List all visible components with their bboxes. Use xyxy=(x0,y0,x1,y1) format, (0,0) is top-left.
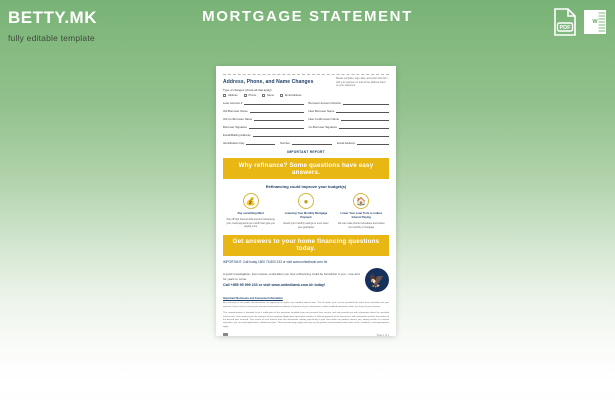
field-coborrower-signature[interactable]: Co-Borrower Signature xyxy=(309,125,390,129)
input-line[interactable] xyxy=(339,125,389,129)
feature-title: Pay something Mind xyxy=(226,212,276,216)
document-footer: Page 1 of 1 xyxy=(223,333,389,336)
return-instructions-note: Please complete, sign, date, and return … xyxy=(336,77,388,88)
document-preview-page[interactable]: Please complete, sign, date, and return … xyxy=(216,66,396,336)
get-answers-banner: Get answers to your home financing quest… xyxy=(223,235,389,256)
field-identification-day[interactable]: Identification Day xyxy=(223,141,275,145)
input-line[interactable] xyxy=(292,141,332,145)
feature-item: 🏠 Lower Your Loan Term to reduce Interes… xyxy=(336,193,386,230)
word-label: W xyxy=(583,19,607,25)
important-report-note: IMPORTANT REPORT xyxy=(223,150,389,154)
change-type-label: Type of changes (check all that apply): xyxy=(223,88,389,92)
field-email-mailing-address[interactable]: Email/Mailing Address xyxy=(223,133,389,137)
field-loan-account[interactable]: Loan Account # xyxy=(223,101,304,105)
feature-body: Reach your monthly savings or even lower… xyxy=(281,222,331,229)
promo-text: A quick investigation, loan review, coul… xyxy=(223,272,361,289)
field-old-coborrower-name[interactable]: Old Co-Borrower Name xyxy=(223,117,304,121)
legal-paragraph-2: This communication is intended to be a n… xyxy=(223,312,389,329)
field-row: Old Co-Borrower Name New Co-Borrower Nam… xyxy=(223,117,389,121)
page-number: Page 1 of 1 xyxy=(377,334,389,336)
field-row: Loan Account # Borrower Account Number xyxy=(223,101,389,105)
promo-block: A quick investigation, loan review, coul… xyxy=(223,268,389,292)
input-line[interactable] xyxy=(357,141,389,145)
input-line[interactable] xyxy=(244,101,303,105)
feature-title: Lower Your Loan Term to reduce Interest … xyxy=(336,212,386,220)
input-line[interactable] xyxy=(341,117,389,121)
field-email-address[interactable]: Email Address xyxy=(337,141,389,145)
input-line[interactable] xyxy=(249,125,303,129)
promo-cta: Call +855 95 999 233 or visit www.united… xyxy=(223,282,361,288)
field-row: Email/Mailing Address xyxy=(223,133,389,137)
field-row: Old Borrower Name New Borrower Name xyxy=(223,109,389,113)
promo-body: A quick investigation, loan review, coul… xyxy=(223,272,360,281)
contact-line: IMPORTANT: Call today 1800 76 800 233 or… xyxy=(223,260,389,265)
field-row: Borrower Signature Co-Borrower Signature xyxy=(223,125,389,129)
change-type-checkbox-group[interactable]: Address Phone Name Email Address xyxy=(223,94,389,97)
word-file-icon[interactable]: W xyxy=(583,8,607,36)
field-borrower-signature[interactable]: Borrower Signature xyxy=(223,125,304,129)
refinance-subheading: Refinancing could improve your budget(s) xyxy=(223,184,389,189)
field-new-coborrower-name[interactable]: New Co-Borrower Name xyxy=(309,117,390,121)
feature-list: 💰 Pay something Mind Pay off high intere… xyxy=(223,193,389,230)
house-key-icon: 🏠 xyxy=(353,193,369,209)
page-title: MORTGAGE STATEMENT xyxy=(0,8,615,25)
checkbox-phone[interactable]: Phone xyxy=(244,94,257,97)
input-line[interactable] xyxy=(343,101,389,105)
field-row: Identification Day Number Email Address xyxy=(223,141,389,145)
piggy-bank-icon: 💰 xyxy=(243,193,259,209)
field-old-borrower-name[interactable]: Old Borrower Name xyxy=(223,109,304,113)
bank-logo-icon: 🦅 xyxy=(365,268,389,292)
checkbox-address[interactable]: Address xyxy=(223,94,238,97)
field-new-borrower-name[interactable]: New Borrower Name xyxy=(309,109,390,113)
feature-item: 💰 Pay something Mind Pay off high intere… xyxy=(226,193,276,230)
input-line[interactable] xyxy=(253,133,389,137)
file-format-badges: PDF W xyxy=(553,8,607,36)
brand-tagline: fully editable template xyxy=(8,33,97,43)
field-number[interactable]: Number xyxy=(280,141,332,145)
legal-paragraph-1: By continuing to use public documentatio… xyxy=(223,302,389,309)
feature-body: We can make shorter schedules and reduce… xyxy=(336,222,386,229)
refinance-banner: Why refinance? Some questions have easy … xyxy=(223,158,389,179)
document-mark-icon xyxy=(223,333,228,336)
checkbox-email[interactable]: Email Address xyxy=(280,94,302,97)
field-borrower-account-number[interactable]: Borrower Account Number xyxy=(309,101,390,105)
legal-heading: Important Disclosure and Consumer Inform… xyxy=(223,297,389,300)
checkbox-name[interactable]: Name xyxy=(262,94,274,97)
feature-body: Pay off high interest debt and and refin… xyxy=(226,218,276,229)
input-line[interactable] xyxy=(336,109,389,113)
pdf-file-icon[interactable]: PDF xyxy=(553,8,577,36)
input-line[interactable] xyxy=(254,117,303,121)
feature-title: Lowering Your Monthly Mortgage Payment xyxy=(281,212,331,220)
feature-item: ● Lowering Your Monthly Mortgage Payment… xyxy=(281,193,331,230)
coins-hand-icon: ● xyxy=(298,193,314,209)
input-line[interactable] xyxy=(246,141,275,145)
pdf-label: PDF xyxy=(553,25,577,31)
perforation-divider xyxy=(223,74,389,75)
input-line[interactable] xyxy=(250,109,304,113)
